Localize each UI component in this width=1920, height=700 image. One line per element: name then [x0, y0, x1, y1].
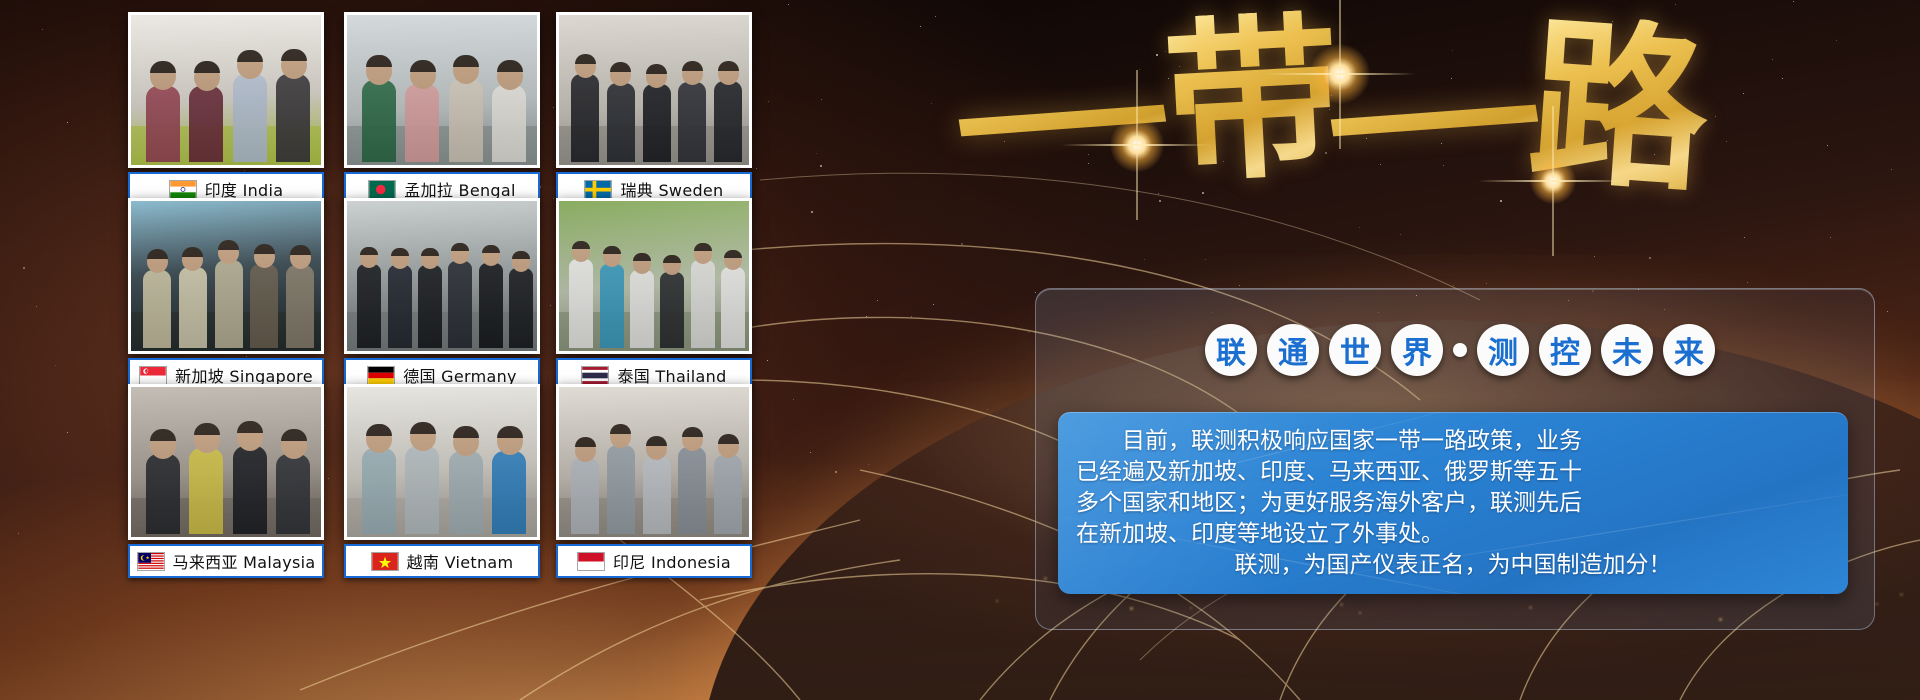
description-line-2: 已经遍及新加坡、印度、马来西亚、俄罗斯等五十 [1076, 457, 1830, 488]
country-label-bar[interactable]: 马来西亚 Malaysia [128, 544, 324, 578]
description-line-4: 在新加坡、印度等地设立了外事处。 [1076, 519, 1830, 550]
country-card[interactable]: 新加坡 Singapore [128, 198, 324, 378]
slogan-char-4: 界 [1391, 324, 1443, 376]
country-gallery: 印度 India孟加拉 Bengal瑞典 Sweden新加坡 Singapore… [128, 12, 760, 592]
country-label-text: 马来西亚 Malaysia [173, 549, 316, 573]
country-photo[interactable] [128, 384, 324, 540]
country-card[interactable]: 越南 Vietnam [344, 384, 540, 564]
banner-stage: 印度 India孟加拉 Bengal瑞典 Sweden新加坡 Singapore… [0, 0, 1920, 700]
flag-thailand-icon [581, 366, 609, 385]
flag-indonesia-icon [577, 552, 605, 571]
country-photo[interactable] [556, 12, 752, 168]
calligraphy-char-2: 带 [1161, 9, 1345, 193]
calligraphy-title: 一 带 一 路 [1010, 8, 1570, 223]
description-line-5: 联测，为国产仪表正名，为中国制造加分！ [1076, 550, 1830, 581]
slogan-char-2: 通 [1267, 324, 1319, 376]
country-card[interactable]: 泰国 Thailand [556, 198, 752, 378]
country-photo[interactable] [128, 198, 324, 354]
slogan-char-7: 控 [1539, 324, 1591, 376]
slogan-char-1: 联 [1205, 324, 1257, 376]
country-card[interactable]: 印尼 Indonesia [556, 384, 752, 564]
flag-sweden-icon [584, 180, 612, 199]
country-photo[interactable] [556, 384, 752, 540]
country-card[interactable]: 马来西亚 Malaysia [128, 384, 324, 564]
calligraphy-char-4: 路 [1524, 12, 1714, 202]
country-card[interactable]: 瑞典 Sweden [556, 12, 752, 192]
flag-india-icon [169, 180, 197, 199]
description-line-3: 多个国家和地区；为更好服务海外客户，联测先后 [1076, 488, 1830, 519]
description-box: 目前，联测积极响应国家一带一路政策，业务 已经遍及新加坡、印度、马来西亚、俄罗斯… [1058, 412, 1848, 594]
country-photo[interactable] [344, 12, 540, 168]
slogan-char-6: 测 [1477, 324, 1529, 376]
country-photo[interactable] [344, 198, 540, 354]
country-label-bar[interactable]: 印尼 Indonesia [556, 544, 752, 578]
country-label-bar[interactable]: 越南 Vietnam [344, 544, 540, 578]
country-card[interactable]: 德国 Germany [344, 198, 540, 378]
slogan-row: 联通世界测控未来 [1140, 318, 1780, 382]
flag-vietnam-icon [371, 552, 399, 571]
description-line-1: 目前，联测积极响应国家一带一路政策，业务 [1076, 426, 1830, 457]
slogan-separator-dot [1453, 343, 1467, 357]
flag-malaysia-icon [137, 552, 165, 571]
country-card[interactable]: 孟加拉 Bengal [344, 12, 540, 192]
calligraphy-char-1: 一 [943, 45, 1182, 210]
country-photo[interactable] [556, 198, 752, 354]
flag-germany-icon [367, 366, 395, 385]
country-label-text: 越南 Vietnam [407, 549, 514, 573]
flag-bangladesh-icon [368, 180, 396, 199]
slogan-char-8: 未 [1601, 324, 1653, 376]
country-photo[interactable] [128, 12, 324, 168]
slogan-char-9: 来 [1663, 324, 1715, 376]
slogan-char-3: 世 [1329, 324, 1381, 376]
calligraphy-char-3: 一 [1315, 45, 1554, 210]
flag-singapore-icon [139, 366, 167, 385]
country-label-text: 印尼 Indonesia [613, 549, 731, 573]
country-card[interactable]: 印度 India [128, 12, 324, 192]
country-photo[interactable] [344, 384, 540, 540]
